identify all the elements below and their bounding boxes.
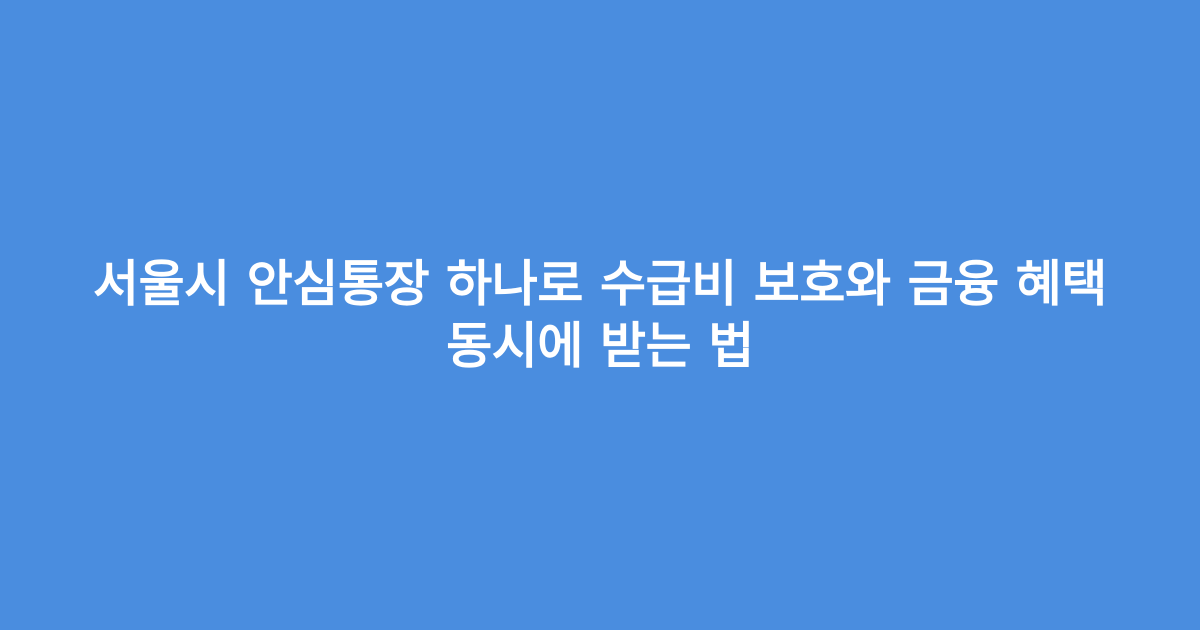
og-card: 서울시 안심통장 하나로 수급비 보호와 금융 혜택 동시에 받는 법 (0, 0, 1200, 630)
page-title: 서울시 안심통장 하나로 수급비 보호와 금융 혜택 동시에 받는 법 (70, 253, 1130, 377)
title-block: 서울시 안심통장 하나로 수급비 보호와 금융 혜택 동시에 받는 법 (0, 253, 1200, 377)
